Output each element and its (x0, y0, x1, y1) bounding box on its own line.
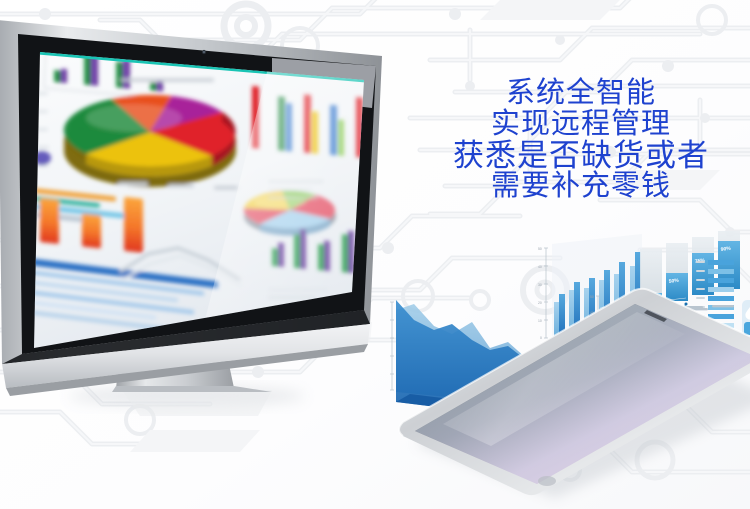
promo-banner: 系统全智能 实现远程管理 获悉是否缺货或者 需要补充零钱 (0, 0, 750, 509)
smartphone (385, 248, 750, 509)
headline-text: 系统全智能 实现远程管理 获悉是否缺货或者 需要补充零钱 (412, 78, 750, 202)
main-3d-pie-chart (64, 95, 236, 187)
headline-line-2: 实现远程管理 (412, 109, 750, 140)
webcam-lens-icon (203, 51, 205, 53)
monitor-stand-foot (112, 386, 272, 392)
desktop-monitor (0, 0, 392, 432)
phone-home-button[interactable] (538, 476, 556, 486)
monitor-reflection (122, 390, 272, 416)
headline-line-4: 需要补充零钱 (412, 171, 750, 202)
headline-line-3: 获悉是否缺货或者 (412, 140, 750, 171)
headline-line-1: 系统全智能 (412, 78, 750, 109)
